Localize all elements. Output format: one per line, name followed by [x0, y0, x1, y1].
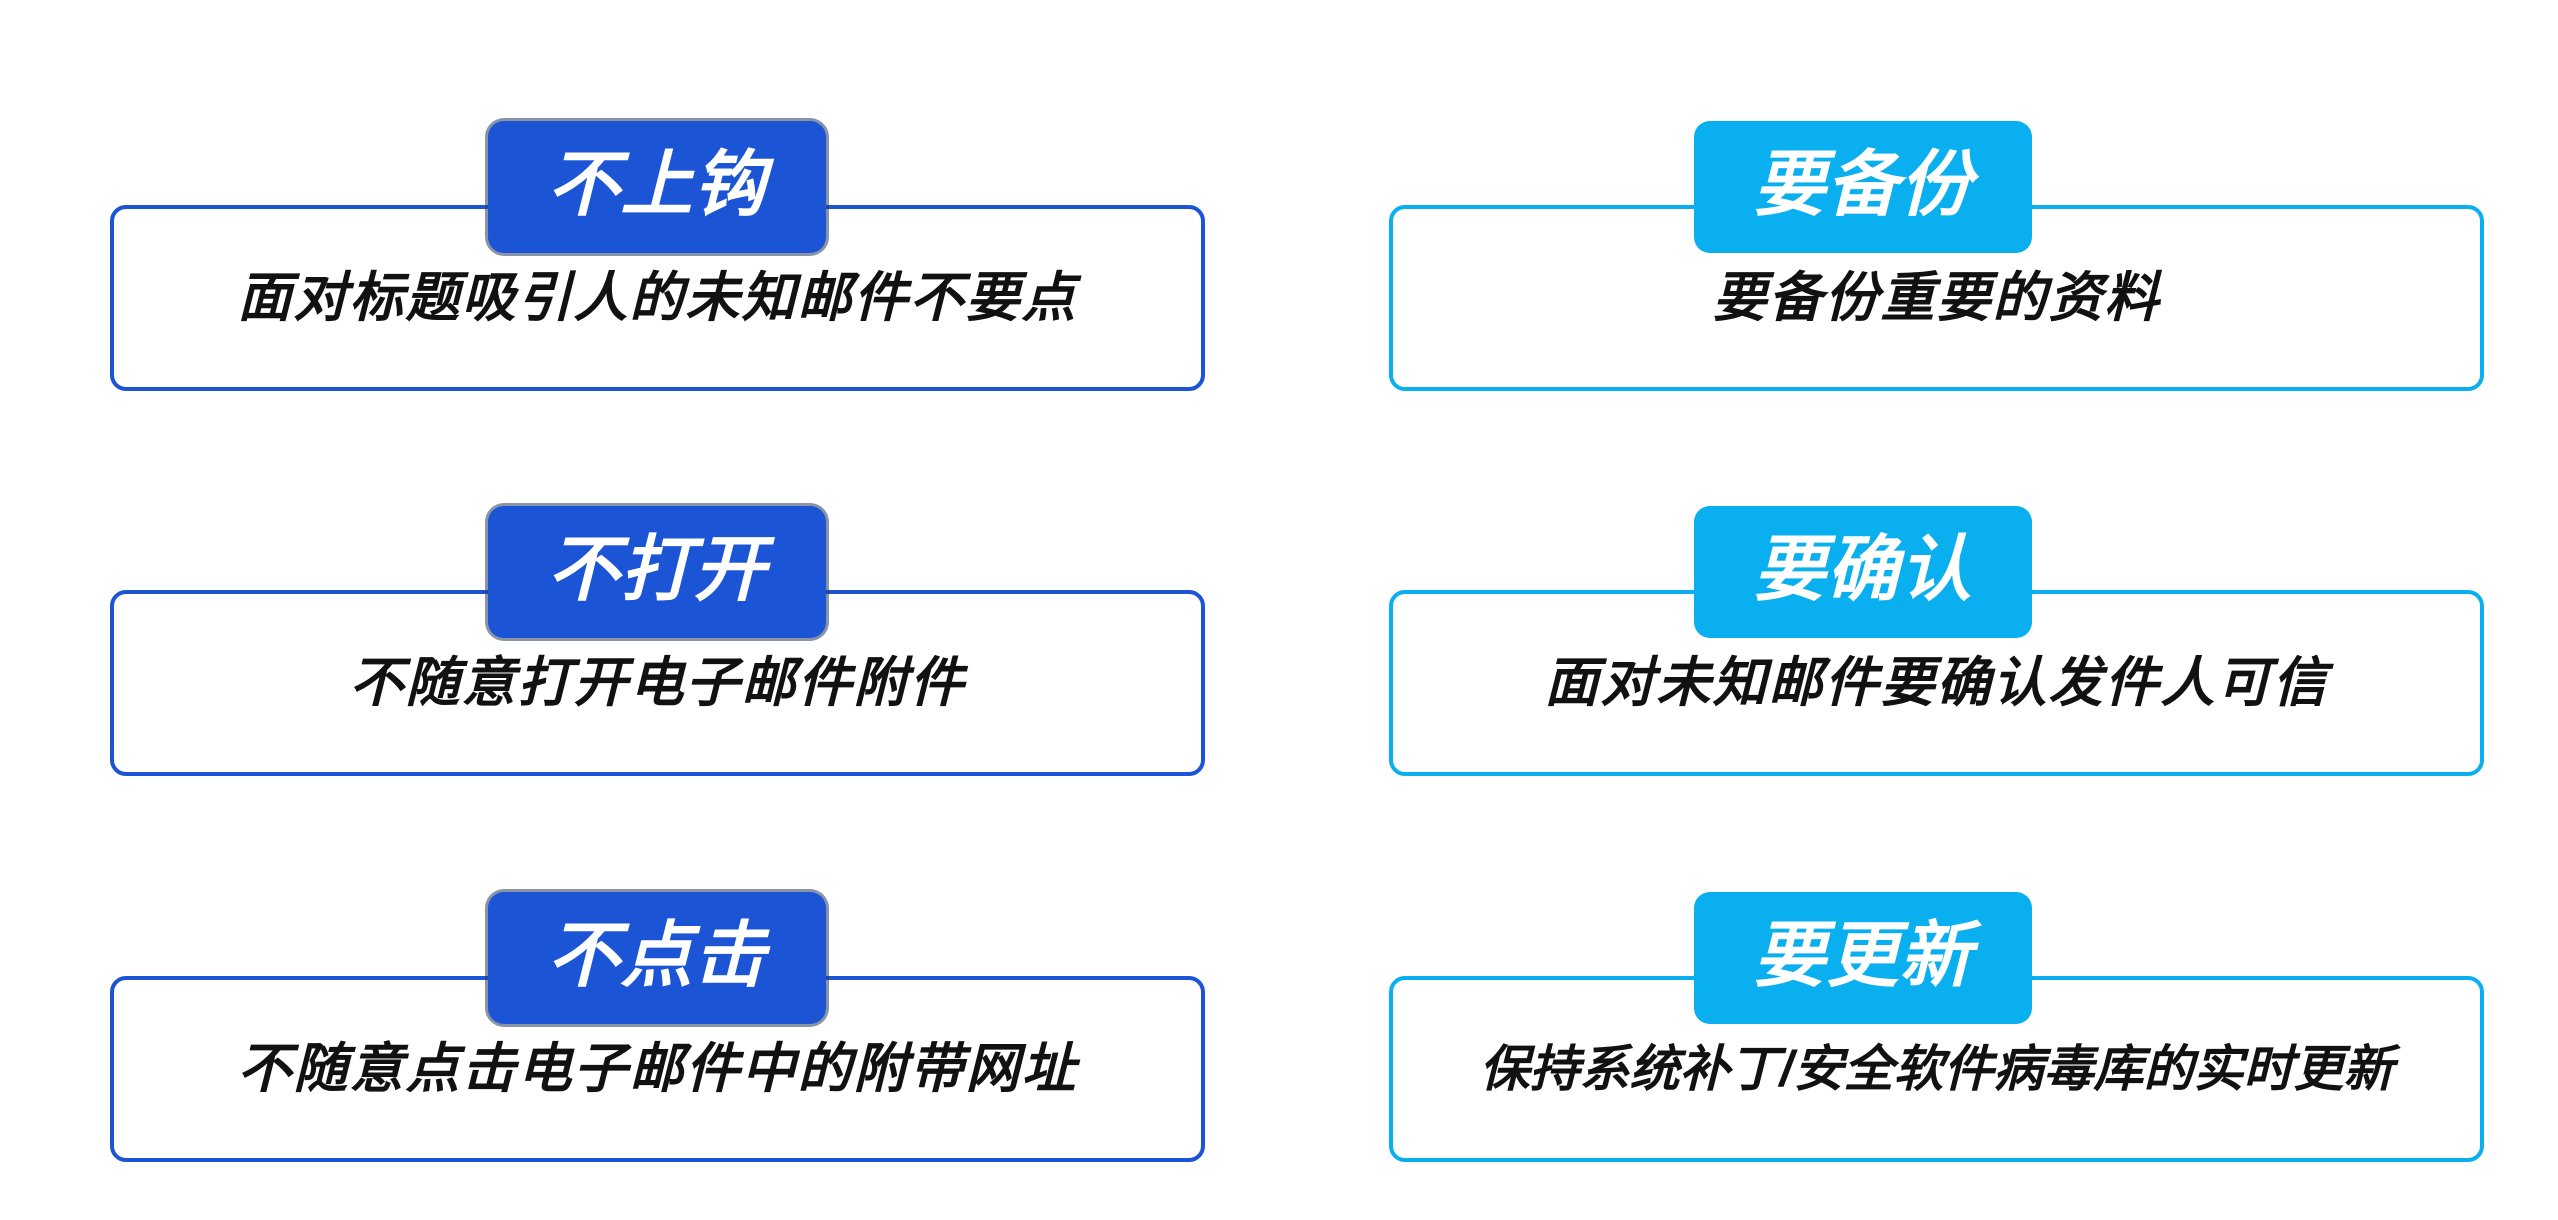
card-badge-label: 要确认	[1753, 534, 1972, 606]
card-body-text: 面对未知邮件要确认发件人可信	[1393, 656, 2480, 710]
card-body-text: 不随意点击电子邮件中的附带网址	[114, 1042, 1201, 1096]
card-must-confirm: 面对未知邮件要确认发件人可信 要确认	[1279, 408, 2558, 788]
card-badge-label: 要更新	[1753, 920, 1972, 992]
card-must-update: 保持系统补丁/安全软件病毒库的实时更新 要更新	[1279, 788, 2558, 1220]
card-no-click: 不随意点击电子邮件中的附带网址 不点击	[0, 788, 1279, 1220]
card-badge-label: 不打开	[547, 534, 766, 606]
card-badge: 要更新	[1694, 892, 2032, 1024]
card-must-backup: 要备份重要的资料 要备份	[1279, 0, 2558, 408]
card-no-open: 不随意打开电子邮件附件 不打开	[0, 408, 1279, 788]
card-grid: 面对标题吸引人的未知邮件不要点 不上钩 要备份重要的资料 要备份 不随意打开电子…	[0, 0, 2558, 1220]
card-body-text: 要备份重要的资料	[1393, 271, 2480, 325]
card-badge-label: 要备份	[1753, 149, 1972, 221]
infographic-board: 面对标题吸引人的未知邮件不要点 不上钩 要备份重要的资料 要备份 不随意打开电子…	[0, 0, 2558, 1220]
card-body-text: 不随意打开电子邮件附件	[114, 656, 1201, 710]
card-body-text: 面对标题吸引人的未知邮件不要点	[114, 271, 1201, 325]
card-body-text: 保持系统补丁/安全软件病毒库的实时更新	[1393, 1044, 2480, 1094]
card-badge-label: 不上钩	[547, 149, 766, 221]
card-badge-label: 不点击	[547, 920, 766, 992]
card-badge: 要备份	[1694, 121, 2032, 253]
card-badge: 要确认	[1694, 506, 2032, 638]
card-badge: 不上钩	[488, 121, 826, 253]
card-no-bait: 面对标题吸引人的未知邮件不要点 不上钩	[0, 0, 1279, 408]
card-badge: 不点击	[488, 892, 826, 1024]
card-badge: 不打开	[488, 506, 826, 638]
